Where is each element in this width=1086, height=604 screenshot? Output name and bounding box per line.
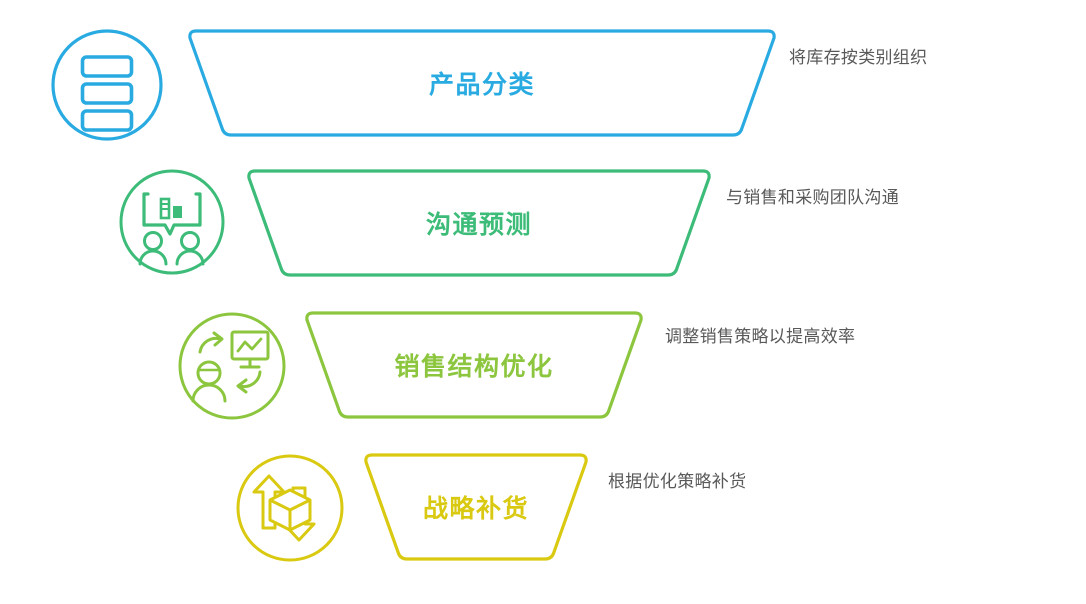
box-up-down-arrows-icon	[234, 452, 346, 564]
stage-2-description: 与销售和采购团队沟通	[726, 186, 986, 211]
person-presentation-refresh-icon	[176, 310, 288, 422]
stage-4-icon-badge[interactable]	[234, 452, 346, 564]
stage-3-description: 调整销售策略以提高效率	[665, 325, 907, 350]
stage-2-icon-badge[interactable]	[118, 168, 226, 276]
stage-4-description: 根据优化策略补货	[608, 470, 868, 495]
stage-1-icon-badge[interactable]	[50, 28, 164, 142]
stage-4-label: 战略补货	[362, 497, 590, 522]
stage-1-description: 将库存按类别组织	[789, 46, 1029, 71]
stage-1-label: 产品分类	[186, 73, 778, 98]
stage-3-label: 销售结构优化	[303, 355, 645, 380]
funnel-diagram: 产品分类 将库存按类别组织	[0, 0, 1086, 604]
stage-2-label: 沟通预测	[245, 213, 713, 238]
stacked-list-icon	[50, 28, 164, 142]
stage-3-icon-badge[interactable]	[176, 310, 288, 422]
people-chat-chart-icon	[118, 168, 226, 276]
